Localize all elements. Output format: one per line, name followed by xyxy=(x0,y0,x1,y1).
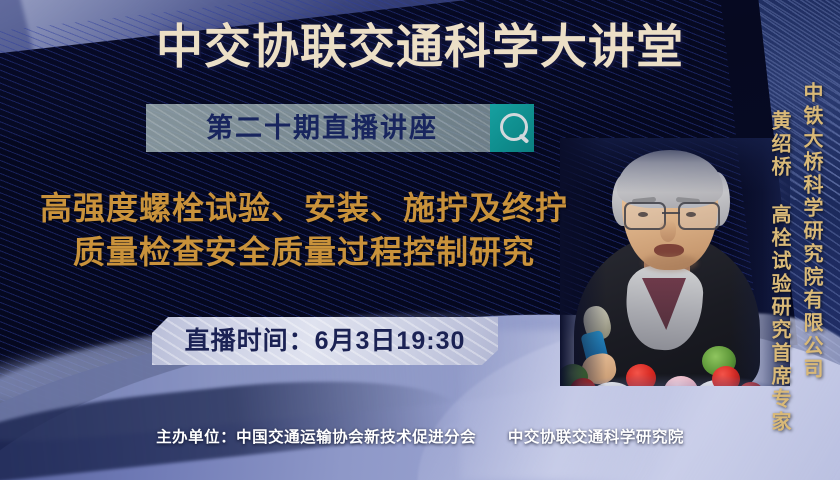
series-label: 第二十期直播讲座 xyxy=(146,104,532,152)
live-lecture-poster: 中交协联交通科学大讲堂 第二十期直播讲座 高强度螺栓试验、安装、施拧及终拧 质量… xyxy=(0,0,840,480)
broadcast-time-badge: 直播时间：6月3日19:30 xyxy=(152,317,498,365)
topic-line-1: 高强度螺栓试验、安装、施拧及终拧 xyxy=(40,190,568,226)
footer-organizers: 主办单位：中国交通运输协会新技术促进分会 中交协联交通科学研究院 xyxy=(0,425,840,447)
speaker-name-role: 黄绍桥 高栓试验研究首席专家 xyxy=(765,110,794,434)
glasses-bridge xyxy=(662,212,680,214)
broadcast-time-label: 直播时间：6月3日19:30 xyxy=(152,317,498,365)
speaker-chin-shadow xyxy=(642,254,698,272)
speaker-organization: 中铁大桥科学研究院有限公司 xyxy=(797,82,826,381)
page-title: 中交协联交通科学大讲堂 xyxy=(0,20,840,74)
glasses-lens-right xyxy=(678,202,720,230)
topic-line-2: 质量检查安全质量过程控制研究 xyxy=(8,230,600,274)
speaker-nose xyxy=(660,220,676,242)
series-banner: 第二十期直播讲座 xyxy=(146,104,532,152)
lecture-topic: 高强度螺栓试验、安装、施拧及终拧 质量检查安全质量过程控制研究 xyxy=(8,186,600,274)
footer-organizer-primary: 主办单位：中国交通运输协会新技术促进分会 xyxy=(156,429,476,446)
footer-organizer-secondary: 中交协联交通科学研究院 xyxy=(508,429,684,446)
search-button[interactable] xyxy=(490,104,534,152)
